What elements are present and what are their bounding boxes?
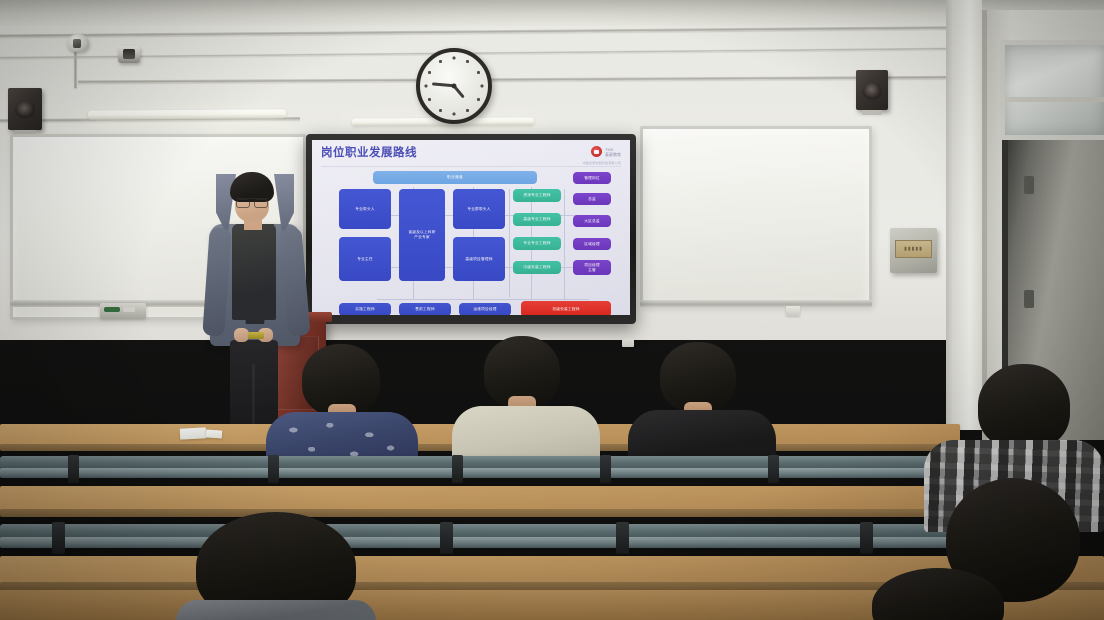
chart-box-green[interactable]: 中级安装工程师 [513,261,561,274]
electrical-panel[interactable]: ▮▮▮▮▮ [890,228,937,273]
panel-plate: ▮▮▮▮▮ [895,240,932,258]
classroom-scene: ▮▮▮▮▮ 岗位职业发展路线 TMS 泰豪教育 中国泰豪智能科技有限公司 [0,0,1104,620]
career-path-chart: 职业通道 专业带头人 专业主任 省级及以上科研 产业专家 专业群带头人 高级项目… [321,171,621,309]
chart-box-green[interactable]: 资深专业工程师 [513,189,561,202]
wall-socket[interactable] [786,306,800,316]
chart-box-blue-tall[interactable]: 省级及以上科研 产业专家 [399,189,445,281]
connector [509,189,510,297]
chart-box-green[interactable]: 高级专业工程师 [513,213,561,226]
chart-box-green[interactable]: 专业专业工程师 [513,237,561,250]
bench-clip [768,455,779,483]
logo-line-2: 泰豪教育 [605,152,621,157]
chart-box-blue[interactable]: 专业主任 [339,237,391,281]
chart-box-highlight[interactable]: 初级安装工程师 [521,301,611,315]
marker-tray [100,303,146,318]
transom-window [1000,40,1104,140]
chart-box-purple[interactable]: 大区总监 [573,215,611,227]
chart-box-purple[interactable]: 管理岗位 [573,172,611,184]
chart-band: 职业通道 [373,171,537,184]
company-logo: TMS 泰豪教育 [591,146,621,157]
bench-clip [452,455,463,483]
chart-box-blue[interactable]: 专业群带头人 [453,189,505,229]
wall-speaker [8,88,42,130]
chart-box-blue-bottom[interactable]: 售前工程师 [399,303,451,315]
presenter [196,172,314,430]
presenter-shirt [232,224,276,320]
bench-clip [52,522,65,554]
conduit-drop [74,50,77,88]
presentation-slide: 岗位职业发展路线 TMS 泰豪教育 中国泰豪智能科技有限公司 [312,140,630,315]
slide-divider [321,166,621,167]
logo-text: TMS 泰豪教育 [605,147,621,157]
door-hinge [1024,176,1034,194]
chart-box-blue[interactable]: 专业带头人 [339,189,391,229]
chart-box-purple[interactable]: 项目经理 主管 [573,260,611,275]
ceiling-light [88,109,286,119]
presenter-hand [234,328,249,342]
student-head [978,364,1070,450]
door-hinge [1024,290,1034,308]
window-mullion [1005,97,1104,102]
paper-sheet[interactable] [180,427,207,439]
connector [377,299,589,300]
wall-socket[interactable] [622,338,634,347]
camera-icon [118,46,140,63]
wall-speaker [856,70,888,110]
bench-clip [860,522,873,554]
logo-subtext: 中国泰豪智能科技有限公司 [583,161,621,165]
ceiling-sensor-icon [67,34,89,52]
wall-display[interactable]: 岗位职业发展路线 TMS 泰豪教育 中国泰豪智能科技有限公司 [306,134,636,324]
presenter-legs [230,340,278,432]
desk-edge [0,509,1000,517]
presenter-clicker[interactable] [248,332,264,339]
whiteboard-right [640,126,872,306]
clock-tick-marks [420,52,488,120]
connector [564,189,565,299]
bench-clip [268,455,279,483]
bench-rail [0,468,960,478]
bench-clip [68,455,79,483]
marker-icon [104,307,120,312]
student-torso [176,600,376,620]
side-wall [952,0,982,430]
paper-sheet[interactable] [206,429,223,438]
glasses-icon [236,198,268,205]
bench-clip [440,522,453,554]
chart-box-purple[interactable]: 区域经理 [573,238,611,250]
slide-title: 岗位职业发展路线 [321,147,621,160]
chart-box-blue-bottom[interactable]: 运维项目经理 [459,303,511,315]
logo-mark-icon [591,146,602,157]
display-screen: 岗位职业发展路线 TMS 泰豪教育 中国泰豪智能科技有限公司 [312,140,630,315]
whiteboard-ledge [640,300,872,307]
chart-band-label: 职业通道 [447,175,463,180]
speaker-bracket [862,110,882,115]
wall-clock [416,48,492,124]
bench-rail [0,537,1000,548]
bench-clip [616,522,629,554]
eraser-icon [123,307,135,312]
ceiling-edge [0,0,1104,26]
chart-box-blue[interactable]: 高级项目管理师 [453,237,505,281]
bench-clip [600,455,611,483]
chart-box-blue-bottom[interactable]: 实施工程师 [339,303,391,315]
chart-box-purple[interactable]: 总监 [573,193,611,205]
